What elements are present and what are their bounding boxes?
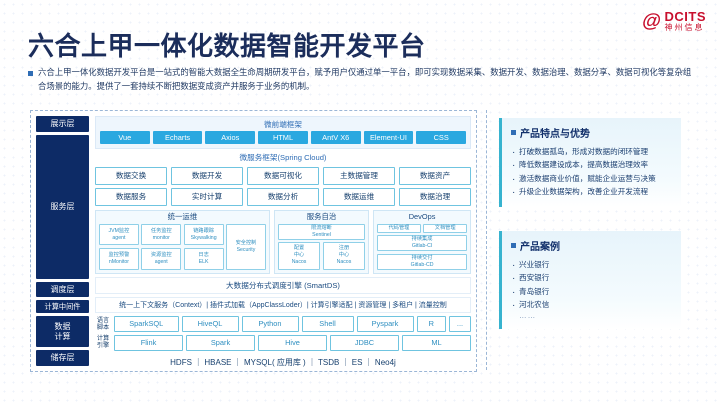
tech-chip[interactable]: Vue — [100, 131, 150, 144]
devops-title: DevOps — [377, 213, 467, 222]
language-item-more[interactable]: ... — [449, 316, 471, 332]
ops-item-cn: 资源监控 — [151, 252, 172, 259]
compute-layer-panel: 语言脚本 计算引擎 SparkSQL HiveQL Python Shell P… — [95, 316, 471, 351]
ops-item-cn: 任务监控 — [151, 228, 172, 235]
service-autonomy-group: 服务自治 限流熔断Sentinel 配置中心Nacos 注册中心Nacos — [274, 210, 369, 274]
compute-engine-row: Flink Spark Hive JDBC ML — [114, 335, 471, 351]
tech-chip[interactable]: AntV X6 — [311, 131, 361, 144]
storage-layer-banner: HDFS ｜ HBASE ｜ MYSQL( 应用库 ) ｜ TSDB ｜ ES … — [95, 354, 471, 371]
unified-ops-group: 统一运维 JVM监控agent 监控预警nMonitor 任务监控monitor… — [95, 210, 270, 274]
language-item[interactable]: Shell — [302, 316, 354, 332]
tech-chip[interactable]: CSS — [416, 131, 466, 144]
cases-more: …… — [511, 311, 672, 320]
ops-item[interactable]: 链路跟踪Skywalking — [184, 224, 224, 246]
ops-item-cn: JVM监控 — [109, 228, 130, 235]
presentation-tech-chips: Vue Echarts Axios HTML AntV X6 Element-U… — [100, 131, 466, 144]
layer-label-column: 展示层 服务层 调度层 计算中间件 数据计算 储存层 — [31, 111, 93, 371]
layer-label-compute: 数据计算 — [36, 316, 89, 347]
micro-frontend-banner: 微前端框架 — [100, 119, 466, 130]
language-item[interactable]: Pyspark — [357, 316, 414, 332]
cases-list: 兴业银行 西安银行 青岛银行 河北农信 — [511, 258, 672, 311]
case-item: 河北农信 — [511, 298, 672, 311]
brand-name-en: DCITS — [665, 10, 707, 23]
feature-item: 降低数据建设成本，提高数据治理效率 — [511, 158, 672, 171]
bullet-square-icon — [28, 71, 33, 76]
service-module[interactable]: 数据分析 — [247, 188, 319, 206]
right-panel: 产品特点与优势 打破数据孤岛，形成对数据的闭环管理 降低数据建设成本，提高数据治… — [486, 110, 691, 370]
ops-item[interactable]: 日志ELK — [184, 248, 224, 270]
page-title: 六合上甲一体化数据智能开发平台 — [28, 26, 426, 63]
presentation-layer-panel: 微前端框架 Vue Echarts Axios HTML AntV X6 Ele… — [95, 116, 471, 149]
brand-logo: @ DCITS 神州信息 — [642, 10, 706, 32]
microservice-framework-banner: 微服务框架(Spring Cloud) — [95, 152, 471, 163]
autonomy-item-en: Nacos — [337, 259, 352, 266]
schedule-engine-banner: 大数据分布式调度引擎 (SmartDS) — [95, 277, 471, 294]
autonomy-item-config-center[interactable]: 配置中心Nacos — [278, 242, 320, 270]
service-module[interactable]: 实时计算 — [171, 188, 243, 206]
engine-item[interactable]: ML — [402, 335, 471, 351]
feature-item: 打破数据孤岛，形成对数据的闭环管理 — [511, 145, 672, 158]
devops-item-en: Gitlab-CI — [412, 243, 432, 250]
features-card: 产品特点与优势 打破数据孤岛，形成对数据的闭环管理 降低数据建设成本，提高数据治… — [499, 118, 681, 207]
autonomy-item-sentinel[interactable]: 限流熔断Sentinel — [278, 224, 365, 240]
service-module[interactable]: 数据治理 — [399, 188, 471, 206]
ops-item-security[interactable]: 安全控制Security — [226, 224, 266, 270]
cases-title: 产品案例 — [520, 238, 560, 253]
compute-engine-label-line2: 引擎 — [97, 342, 109, 349]
architecture-diagram: 展示层 服务层 调度层 计算中间件 数据计算 储存层 微前端框架 Vue Ech… — [30, 110, 477, 372]
brand-name-cn: 神州信息 — [665, 24, 707, 32]
devops-item-doc-mgmt[interactable]: 文档管理 — [423, 224, 467, 233]
tech-chip[interactable]: Element-UI — [364, 131, 414, 144]
features-title: 产品特点与优势 — [520, 125, 590, 140]
layer-label-presentation: 展示层 — [36, 116, 89, 132]
ops-item-cn: 安全控制 — [236, 240, 257, 247]
service-module-row-2: 数据服务 实时计算 数据分析 数据运维 数据治理 — [95, 188, 471, 206]
lang-script-label-line1: 语言 — [97, 317, 109, 324]
service-module[interactable]: 数据服务 — [95, 188, 167, 206]
layer-label-storage: 储存层 — [36, 350, 89, 366]
service-module[interactable]: 数据资产 — [399, 167, 471, 185]
ops-item-cn: 链路跟踪 — [193, 228, 214, 235]
tech-chip[interactable]: Echarts — [153, 131, 203, 144]
devops-item-en: Gitlab-CD — [411, 262, 434, 269]
subtitle-text: 六合上甲一体化数据开发平台是一站式的智能大数据全生命周期研发平台，赋予用户仅通过… — [38, 66, 692, 94]
ops-item[interactable]: 监控预警nMonitor — [99, 248, 139, 270]
ops-item-en: Skywalking — [191, 235, 217, 242]
language-item[interactable]: Python — [242, 316, 299, 332]
engine-item[interactable]: Flink — [114, 335, 183, 351]
case-item: 青岛银行 — [511, 285, 672, 298]
devops-item-cn: 持续交付 — [412, 255, 433, 262]
autonomy-item-registry-center[interactable]: 注册中心Nacos — [323, 242, 365, 270]
tech-chip[interactable]: Axios — [205, 131, 255, 144]
ops-item-cn: 监控预警 — [109, 252, 130, 259]
devops-item-cn: 持续集成 — [412, 236, 433, 243]
autonomy-item-en: Sentinel — [312, 232, 331, 239]
language-item[interactable]: SparkSQL — [114, 316, 179, 332]
layer-label-compute-line1: 数据 — [55, 322, 71, 331]
autonomy-item-cn2: 中心 — [339, 252, 349, 259]
service-module[interactable]: 数据开发 — [171, 167, 243, 185]
service-module[interactable]: 数据运维 — [323, 188, 395, 206]
case-item: 西安银行 — [511, 271, 672, 284]
ops-item-en: Security — [237, 247, 256, 254]
unified-ops-title: 统一运维 — [99, 213, 266, 222]
devops-item-cn: 文档管理 — [435, 225, 456, 232]
layer-label-compute-line2: 计算 — [55, 332, 71, 341]
engine-item[interactable]: Hive — [258, 335, 327, 351]
autonomy-item-cn2: 中心 — [294, 252, 304, 259]
compute-engine-label-line1: 计算 — [97, 335, 109, 342]
ops-item-en: agent — [155, 259, 168, 266]
engine-item[interactable]: Spark — [186, 335, 255, 351]
autonomy-item-cn: 限流熔断 — [311, 225, 332, 232]
ops-item[interactable]: 资源监控agent — [141, 248, 181, 270]
ops-item[interactable]: JVM监控agent — [99, 224, 139, 246]
compute-sublabels: 语言脚本 计算引擎 — [95, 316, 111, 351]
service-autonomy-title: 服务自治 — [278, 213, 365, 222]
service-module[interactable]: 数据交换 — [95, 167, 167, 185]
service-module-row-1: 数据交换 数据开发 数据可视化 主数据管理 数据资产 — [95, 167, 471, 185]
bullet-square-icon — [511, 243, 516, 248]
engine-item[interactable]: JDBC — [330, 335, 399, 351]
service-layer-panel: 数据交换 数据开发 数据可视化 主数据管理 数据资产 数据服务 实时计算 数据分… — [95, 167, 471, 274]
language-item[interactable]: HiveQL — [182, 316, 239, 332]
devops-item-cn: 代码管理 — [389, 225, 410, 232]
devops-item-ci[interactable]: 持续集成Gitlab-CI — [377, 235, 467, 251]
features-list: 打破数据孤岛，形成对数据的闭环管理 降低数据建设成本，提高数据治理效率 激活数据… — [511, 145, 672, 198]
ops-item-en: agent — [112, 235, 125, 242]
feature-item: 升级企业数据架构，改善企业开发流程 — [511, 185, 672, 198]
lang-script-label-line2: 脚本 — [97, 324, 109, 331]
ops-item-en: nMonitor — [109, 259, 129, 266]
dcits-logo-icon: @ — [641, 12, 662, 31]
layer-label-schedule: 调度层 — [36, 282, 89, 297]
ops-item-en: monitor — [153, 235, 170, 242]
layer-label-middleware: 计算中间件 — [36, 300, 89, 313]
page-subtitle: 六合上甲一体化数据开发平台是一站式的智能大数据全生命周期研发平台，赋予用户仅通过… — [28, 66, 692, 94]
layer-label-service: 服务层 — [36, 135, 89, 279]
ops-item-cn: 日志 — [198, 252, 208, 259]
case-item: 兴业银行 — [511, 258, 672, 271]
middleware-banner: 统一上下文服务（Context）| 插件式加载（AppClassLoder）| … — [95, 297, 471, 313]
devops-group: DevOps 代码管理 文档管理 持续集成Gitlab-CI 持续交付Gitla… — [373, 210, 471, 274]
bullet-square-icon — [511, 130, 516, 135]
service-module[interactable]: 数据可视化 — [247, 167, 319, 185]
feature-item: 激活数据商业价值，赋能企业运营与决策 — [511, 172, 672, 185]
autonomy-item-en: Nacos — [292, 259, 307, 266]
devops-item-cd[interactable]: 持续交付Gitlab-CD — [377, 254, 467, 270]
language-script-row: SparkSQL HiveQL Python Shell Pyspark R .… — [114, 316, 471, 332]
tech-chip[interactable]: HTML — [258, 131, 308, 144]
language-item[interactable]: R — [417, 316, 447, 332]
cases-card: 产品案例 兴业银行 西安银行 青岛银行 河北农信 …… — [499, 231, 681, 329]
ops-item[interactable]: 任务监控monitor — [141, 224, 181, 246]
devops-item-code-mgmt[interactable]: 代码管理 — [377, 224, 421, 233]
ops-item-en: ELK — [199, 259, 209, 266]
service-module[interactable]: 主数据管理 — [323, 167, 395, 185]
